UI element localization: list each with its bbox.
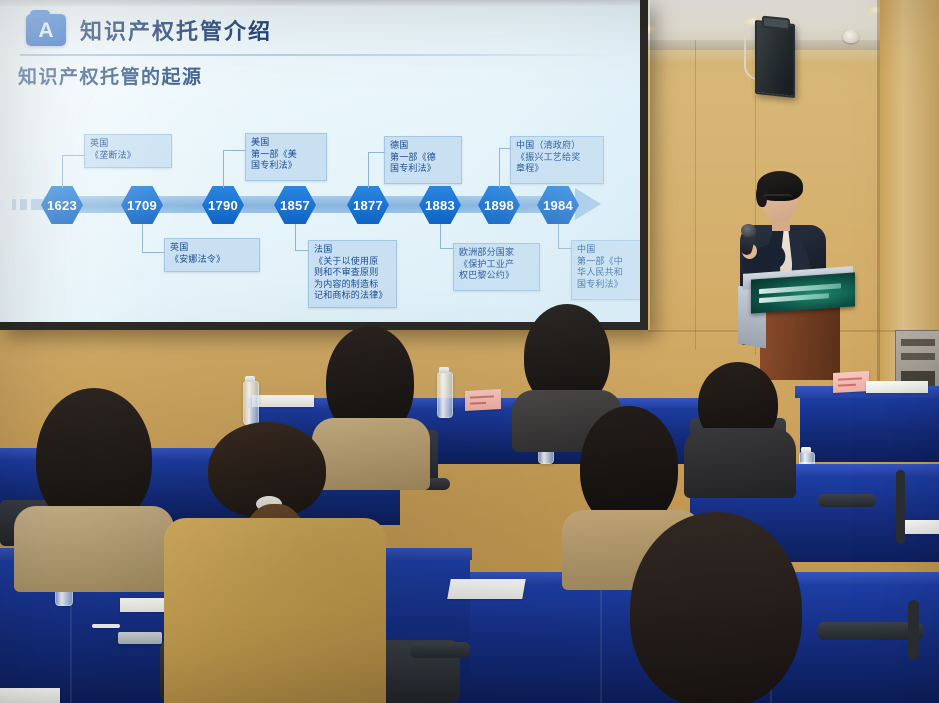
timeline-node-year: 1984 [543, 198, 573, 213]
ceiling-sensor-icon [843, 30, 859, 43]
timeline-node-year: 1709 [127, 198, 157, 213]
water-bottle [243, 381, 259, 425]
chair-armrest [818, 494, 876, 507]
bottle-cap [801, 447, 811, 453]
callout-1877: 德国 第一部《德 国专利法》 [384, 136, 462, 184]
paper-sheet [252, 395, 314, 407]
microphone-head-icon [741, 224, 756, 237]
glasses-icon [763, 194, 792, 202]
timeline-node-1857: 1857 [274, 186, 316, 224]
chair-armrest [410, 642, 470, 658]
water-bottle [437, 372, 453, 418]
slide-header-divider [20, 54, 620, 56]
audience-member [690, 362, 790, 482]
torso [164, 518, 386, 703]
podium-screen-text-line [759, 293, 829, 303]
slide-subtitle: 知识产权托管的起源 [18, 62, 203, 89]
timeline-dash [20, 199, 27, 210]
slide-header: A 知识产权托管介绍 [26, 14, 272, 46]
timeline-node-1984: 1984 [537, 186, 579, 224]
conference-room-photo: A 知识产权托管介绍 知识产权托管的起源 1623 1709 1790 1857… [0, 0, 939, 703]
callout-1623: 英国 《垄断法》 [84, 134, 172, 168]
wall-panel-line [695, 40, 696, 350]
callout-1790: 美国 第一部《美 国专利法》 [245, 133, 327, 181]
name-card-text-line [470, 395, 494, 398]
rack-slot [901, 339, 935, 346]
slide-title: 知识产权托管介绍 [80, 14, 272, 46]
paper-sheet [900, 520, 939, 534]
timeline-node-1709: 1709 [121, 186, 163, 224]
timeline-node-year: 1790 [208, 198, 238, 213]
hair [630, 512, 802, 703]
paper-sheet [447, 579, 526, 599]
name-card [833, 371, 869, 393]
pen [92, 624, 120, 628]
timeline-node-1623: 1623 [41, 186, 83, 224]
cloth-fold [600, 584, 602, 703]
name-card-text-line [838, 384, 856, 387]
projection-screen: A 知识产权托管介绍 知识产权托管的起源 1623 1709 1790 1857… [0, 0, 640, 322]
callout-1898: 中国（清政府） 《振兴工艺给奖 章程》 [510, 136, 604, 184]
badge-letter: A [38, 20, 53, 41]
name-card-text-line [470, 402, 486, 405]
paper-sheet [866, 381, 928, 393]
paper-sheet [0, 688, 60, 703]
callout-1883: 欧洲部分国家 《保护工业产 权巴黎公约》 [453, 243, 540, 291]
timeline-node-1883: 1883 [419, 186, 461, 224]
timeline-node-year: 1857 [280, 198, 310, 213]
timeline-node-year: 1877 [353, 198, 383, 213]
chair-post [896, 470, 905, 544]
timeline-node-year: 1883 [425, 198, 455, 213]
timeline-node-year: 1623 [47, 198, 77, 213]
wall-seam [877, 0, 880, 400]
timeline-node-1877: 1877 [347, 186, 389, 224]
timeline-node-year: 1898 [484, 198, 514, 213]
timeline-arrow-icon [575, 188, 601, 220]
torso [684, 428, 796, 498]
name-card-text-line [838, 377, 862, 380]
bottle-cap [245, 376, 255, 382]
table-back-right [800, 392, 939, 462]
torso [14, 506, 174, 592]
timeline-node-1790: 1790 [202, 186, 244, 224]
timeline-dash [12, 199, 16, 210]
rack-slot [901, 353, 935, 360]
timeline-node-1898: 1898 [478, 186, 520, 224]
name-card [465, 389, 501, 411]
phone [118, 632, 162, 644]
callout-1984: 中国 第一部《中 华人民共和 国专利法》 [571, 240, 640, 300]
callout-1857: 法国 《关于以使用原 则和不审查原则 为内容的制造标 记和商标的法律》 [308, 240, 397, 308]
bottle-cap [439, 367, 449, 373]
audience-member [28, 388, 164, 568]
callout-1709: 英国 《安娜法令》 [164, 238, 260, 272]
screen-top-strip [0, 0, 640, 6]
audience-member [620, 512, 820, 703]
wall-speaker-icon [755, 20, 795, 98]
chair-post [908, 600, 919, 660]
podium-led-screen [751, 272, 855, 313]
audience-member [178, 422, 368, 703]
slide-badge-icon: A [26, 14, 66, 46]
